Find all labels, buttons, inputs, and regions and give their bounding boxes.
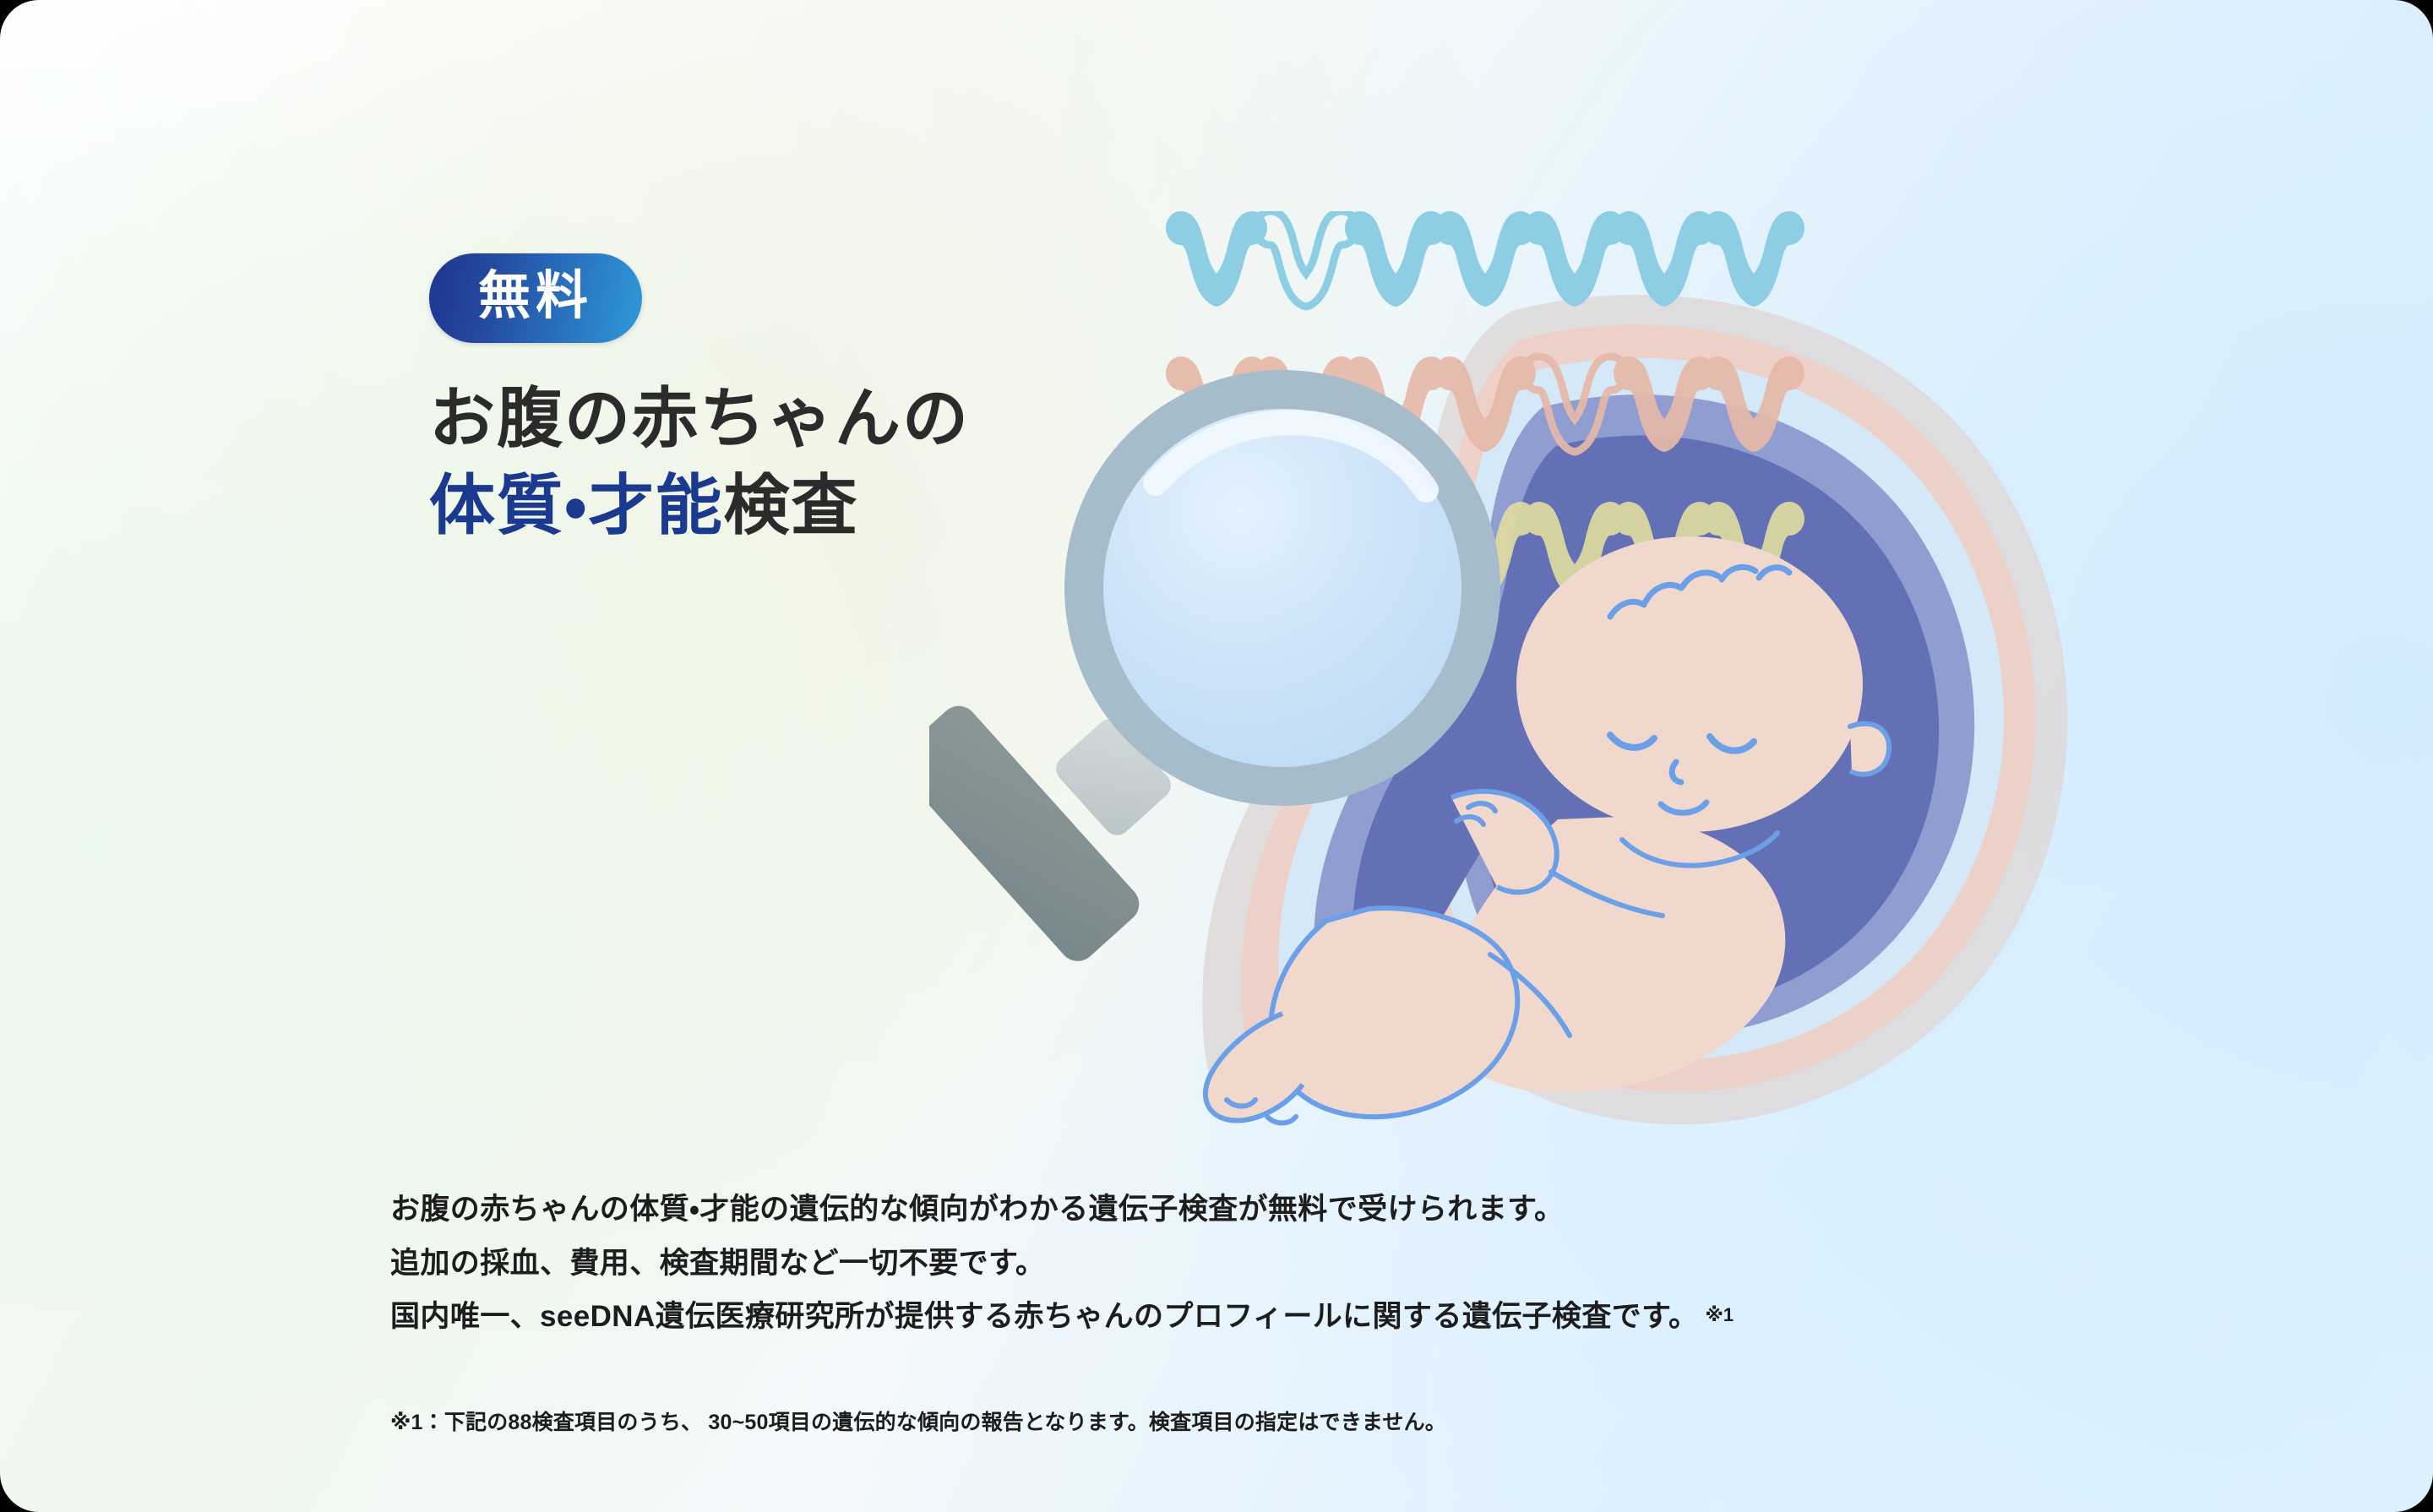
footnote-marker: ※1 bbox=[1705, 1304, 1734, 1325]
body-copy: お腹の赤ちゃんの体質・才能の遺伝的な傾向がわかる遺伝子検査が無料で受けられます。… bbox=[390, 1183, 2131, 1344]
headline-line-2: 体質・才能検査 bbox=[429, 462, 1130, 549]
body-line-2: 追加の採血、費用、検査期間など一切不要です。 bbox=[390, 1237, 2131, 1291]
body-line-3-text: 国内唯一、seeDNA遺伝医療研究所が提供する赤ちゃんのプロフィールに関する遺伝… bbox=[390, 1300, 1698, 1333]
chromosome-row-1 bbox=[1166, 211, 1804, 307]
body-line-3: 国内唯一、seeDNA遺伝医療研究所が提供する赤ちゃんのプロフィールに関する遺伝… bbox=[390, 1290, 2131, 1344]
page-title: お腹の赤ちゃんの 体質・才能検査 bbox=[429, 375, 1130, 549]
headline-accent: 体質・才能 bbox=[429, 468, 724, 542]
footnote-text: ※1：下記の88検査項目のうち、 30~50項目の遺伝的な傾向の報告となります。… bbox=[390, 1406, 1446, 1436]
headline-line-1: お腹の赤ちゃんの bbox=[429, 375, 1130, 462]
body-line-1: お腹の赤ちゃんの体質・才能の遺伝的な傾向がわかる遺伝子検査が無料で受けられます。 bbox=[390, 1183, 2131, 1237]
hero-card: 無料 お腹の赤ちゃんの 体質・才能検査 お腹の赤ちゃんの体質・才能の遺伝的な傾向… bbox=[0, 0, 2433, 1512]
headline-tail: 検査 bbox=[724, 468, 859, 542]
free-badge: 無料 bbox=[429, 253, 642, 343]
hero-text-block: 無料 お腹の赤ちゃんの 体質・才能検査 bbox=[429, 253, 1130, 549]
